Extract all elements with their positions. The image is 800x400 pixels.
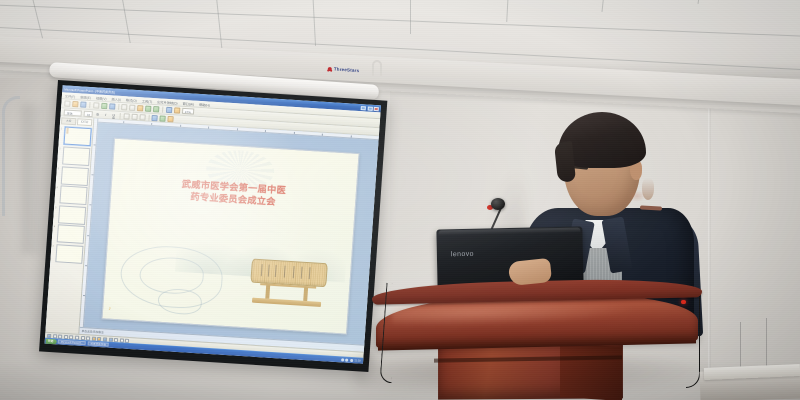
align-center-icon[interactable] [131,113,137,119]
menu-item-edit[interactable]: 编辑(E) [80,94,91,100]
italic-button[interactable]: I [103,111,109,117]
toolbar-separator [148,114,149,120]
thumbnail-row[interactable]: 5 [54,205,86,225]
numbered-list-icon[interactable] [160,115,166,121]
roller-bracket [372,60,382,76]
slide-thumbnail-2[interactable] [62,146,90,166]
toolbar-separator [119,112,120,118]
brand-mark-icon [328,66,332,70]
slide-thumbnail-6[interactable] [57,225,85,245]
paste-icon[interactable] [137,105,143,111]
bold-button[interactable]: B [95,111,101,117]
floor-shadow [0,360,800,400]
slide-thumbnail-1[interactable] [63,127,91,147]
nose [642,178,654,200]
thumb-graphic [66,128,68,134]
save-icon[interactable] [80,101,86,107]
print-preview-icon[interactable] [101,103,107,109]
thumbnail-number: 5 [55,205,58,209]
current-slide[interactable]: 武威市医学会第一届中医 药专业委员会成立会 [102,138,359,334]
menu-item-format[interactable]: 格式(O) [126,97,137,103]
menu-item-file[interactable]: 文件(F) [65,93,76,99]
thumbnail-number: 6 [54,224,57,228]
font-color-icon[interactable] [168,115,174,121]
thumbnail-number: 2 [59,146,62,150]
menu-item-help[interactable]: 帮助(H) [199,101,210,107]
underline-button[interactable]: U [110,112,116,118]
redo-icon[interactable] [153,106,159,112]
toolbar-separator [162,107,163,113]
projection-screen-surface: Microsoft PowerPoint - [中医药委员会] 文件(F) 编辑… [45,85,381,363]
microphone-head[interactable] [491,198,505,210]
thumbnail-row[interactable]: 4 [55,185,87,205]
font-name-select[interactable]: 宋体 [64,109,82,116]
align-left-icon[interactable] [123,113,129,119]
slide-thumbnail-7[interactable] [55,244,83,264]
sound-icon[interactable]: ♪ [108,306,113,311]
font-size-select[interactable]: 18 [84,110,93,117]
align-right-icon[interactable] [139,114,145,120]
cut-icon[interactable] [121,104,127,110]
laptop-brand-label: lenovo [451,251,474,258]
thumbnail-number: 1 [60,127,63,131]
undo-icon[interactable] [145,106,151,112]
slide-thumbnail-3[interactable] [61,166,89,186]
open-folder-icon[interactable] [72,101,78,107]
start-button[interactable]: 开始 [46,338,57,344]
scroll-leg [304,287,308,301]
hand [508,258,552,286]
pane-tab-strip[interactable]: 大纲 幻灯片 [61,117,92,126]
toolbar-separator [118,104,119,110]
powerpoint-window: Microsoft PowerPoint - [中医药委员会] 文件(F) 编辑… [45,85,381,363]
menu-item-insert[interactable]: 插入(I) [111,96,121,102]
tab-outline[interactable]: 大纲 [61,117,76,125]
close-button[interactable] [374,106,379,110]
maximize-button[interactable] [367,106,372,110]
menu-item-tools[interactable]: 工具(T) [142,98,153,104]
taskbar-item-powerpoint[interactable]: Microsoft PowerP... [58,339,86,345]
thumbnail-number: 7 [52,244,55,248]
taskbar-item-document[interactable]: 武威市医学会 [87,341,109,347]
wall-conduit [2,96,20,216]
thumbnail-row[interactable]: 2 [58,146,90,166]
toolbar-separator [89,102,90,108]
scroll-leg [266,284,270,298]
tab-slides[interactable]: 幻灯片 [77,118,92,126]
insert-table-icon[interactable] [166,107,172,113]
thumbnail-number: 4 [56,185,59,189]
print-icon[interactable] [93,102,99,108]
menu-item-slideshow[interactable]: 幻灯片放映(D) [157,99,178,105]
thumbnail-row[interactable]: 6 [53,224,85,244]
spellcheck-icon[interactable] [109,103,115,109]
slide-thumbnail-5[interactable] [58,205,86,225]
laptop-bevel [438,228,580,236]
wall-shadow [22,104,48,254]
slide-thumbnail-4[interactable] [59,186,87,206]
podium-indicator-led [681,300,686,304]
thumbnail-row[interactable]: 7 [51,244,83,264]
presentation-photo: ThreeStars Microsoft PowerPoint - [中医药委员… [0,0,800,400]
scroll-base [252,298,322,308]
zoom-level-select[interactable]: 47% [182,108,194,115]
projection-screen-frame: Microsoft PowerPoint - [中医药委员会] 文件(F) 编辑… [39,80,387,372]
thumbnail-row[interactable]: 3 [57,166,89,186]
window-controls[interactable] [361,106,379,111]
thumbnail-number: 3 [58,166,61,170]
menu-item-view[interactable]: 视图(V) [96,95,107,101]
ppt-workspace: 大纲 幻灯片 1 2 [45,116,378,352]
slide-edit-area[interactable]: 武威市医学会第一届中医 药专业委员会成立会 [79,118,379,351]
thumbnail-row[interactable]: 1 [59,127,91,147]
bamboo-scroll-graphic [245,255,331,314]
insert-chart-icon[interactable] [174,107,180,113]
minimize-button[interactable] [361,106,366,110]
menu-item-window[interactable]: 窗口(W) [182,100,194,106]
copy-icon[interactable] [129,105,135,111]
bullet-list-icon[interactable] [152,114,158,120]
new-file-icon[interactable] [64,100,70,106]
